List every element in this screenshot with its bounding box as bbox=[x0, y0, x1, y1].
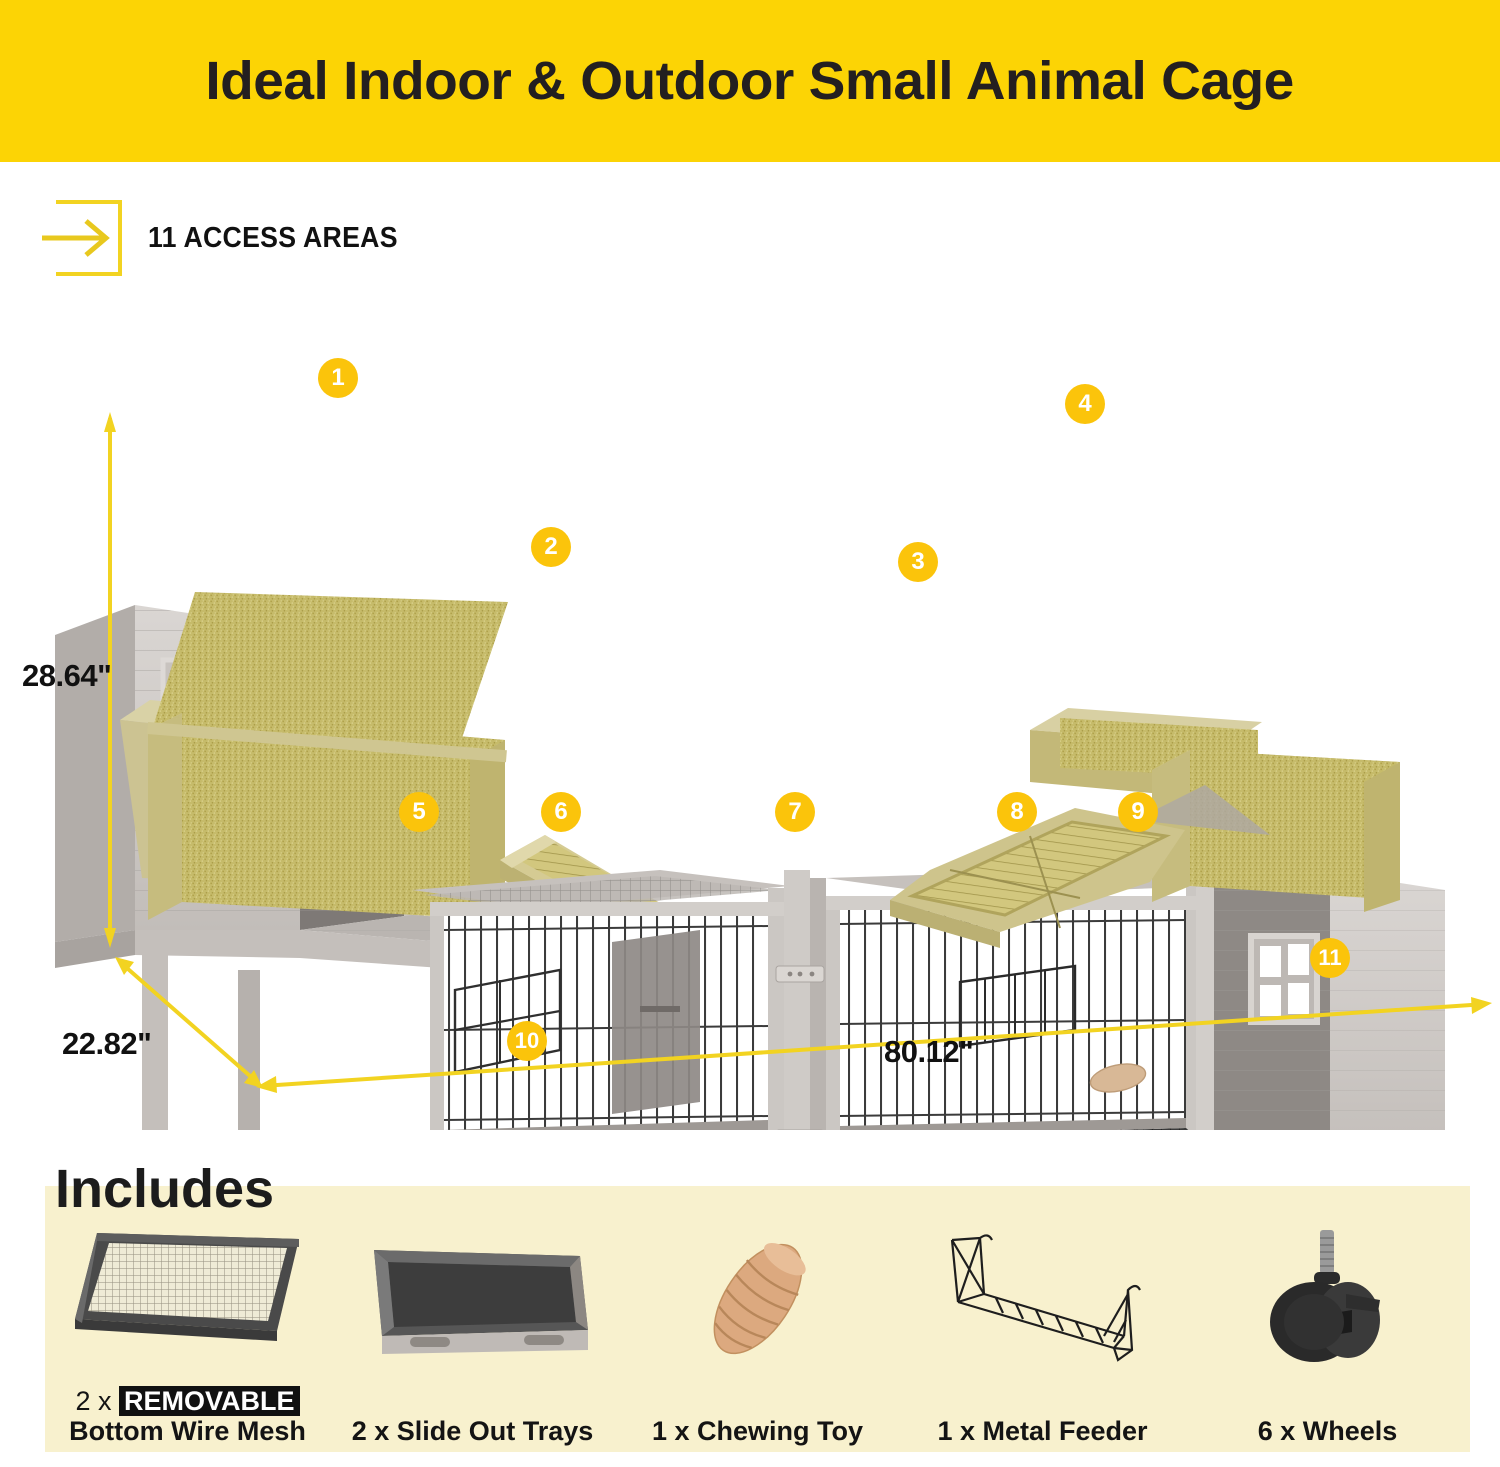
include-label-wheels: 6 x Wheels bbox=[1258, 1416, 1398, 1446]
callout-badge-11: 11 bbox=[1310, 938, 1350, 978]
include-caption-wire-mesh: 2 x REMOVABLE Bottom Wire Mesh bbox=[69, 1382, 306, 1446]
include-label-wire-mesh: Bottom Wire Mesh bbox=[69, 1416, 306, 1446]
callout-badge-6: 6 bbox=[541, 792, 581, 832]
arrow-into-box-icon bbox=[42, 196, 126, 280]
include-caption-metal-feeder: 1 x Metal Feeder bbox=[937, 1412, 1147, 1446]
product-illustration bbox=[0, 330, 1500, 1130]
access-areas-label: 11 ACCESS AREAS bbox=[148, 222, 398, 255]
include-qty-wire-mesh: 2 x bbox=[75, 1386, 119, 1416]
metal-feeder-icon bbox=[900, 1186, 1185, 1412]
header-banner: Ideal Indoor & Outdoor Small Animal Cage bbox=[0, 0, 1500, 162]
callout-badge-9: 9 bbox=[1118, 792, 1158, 832]
include-item-wheels: 6 x Wheels bbox=[1185, 1186, 1470, 1452]
include-item-wire-mesh: 2 x REMOVABLE Bottom Wire Mesh bbox=[45, 1186, 330, 1452]
access-areas-row: 11 ACCESS AREAS bbox=[42, 196, 420, 280]
include-label-metal-feeder: 1 x Metal Feeder bbox=[937, 1416, 1147, 1446]
includes-title: Includes bbox=[55, 1158, 274, 1220]
include-caption-chewing-toy: 1 x Chewing Toy bbox=[652, 1412, 863, 1446]
hutch-drawing bbox=[0, 330, 1500, 1130]
callout-badge-3: 3 bbox=[898, 542, 938, 582]
include-item-metal-feeder: 1 x Metal Feeder bbox=[900, 1186, 1185, 1452]
includes-items-grid: 2 x REMOVABLE Bottom Wire Mesh 2 x Slide… bbox=[45, 1186, 1470, 1452]
callout-badge-8: 8 bbox=[997, 792, 1037, 832]
callout-badge-10: 10 bbox=[507, 1021, 547, 1061]
callout-badge-5: 5 bbox=[399, 792, 439, 832]
callout-badge-2: 2 bbox=[531, 527, 571, 567]
chewing-toy-icon bbox=[615, 1186, 900, 1412]
callout-badge-4: 4 bbox=[1065, 384, 1105, 424]
dimension-depth-label: 22.82" bbox=[62, 1026, 151, 1062]
dimension-height-label: 28.64" bbox=[22, 658, 111, 694]
caster-wheel-icon bbox=[1185, 1186, 1470, 1412]
include-label-chewing-toy: 1 x Chewing Toy bbox=[652, 1416, 863, 1446]
callout-badge-7: 7 bbox=[775, 792, 815, 832]
include-caption-slide-out-tray: 2 x Slide Out Trays bbox=[352, 1412, 594, 1446]
include-caption-wheels: 6 x Wheels bbox=[1258, 1412, 1398, 1446]
page-title: Ideal Indoor & Outdoor Small Animal Cage bbox=[206, 50, 1294, 112]
dimension-width-label: 80.12" bbox=[884, 1034, 973, 1070]
include-highlight-removable: REMOVABLE bbox=[119, 1386, 300, 1416]
slide-out-tray-icon bbox=[330, 1186, 615, 1412]
include-item-chewing-toy: 1 x Chewing Toy bbox=[615, 1186, 900, 1452]
include-item-slide-out-tray: 2 x Slide Out Trays bbox=[330, 1186, 615, 1452]
callout-badge-1: 1 bbox=[318, 358, 358, 398]
include-label-slide-out-tray: 2 x Slide Out Trays bbox=[352, 1416, 594, 1446]
